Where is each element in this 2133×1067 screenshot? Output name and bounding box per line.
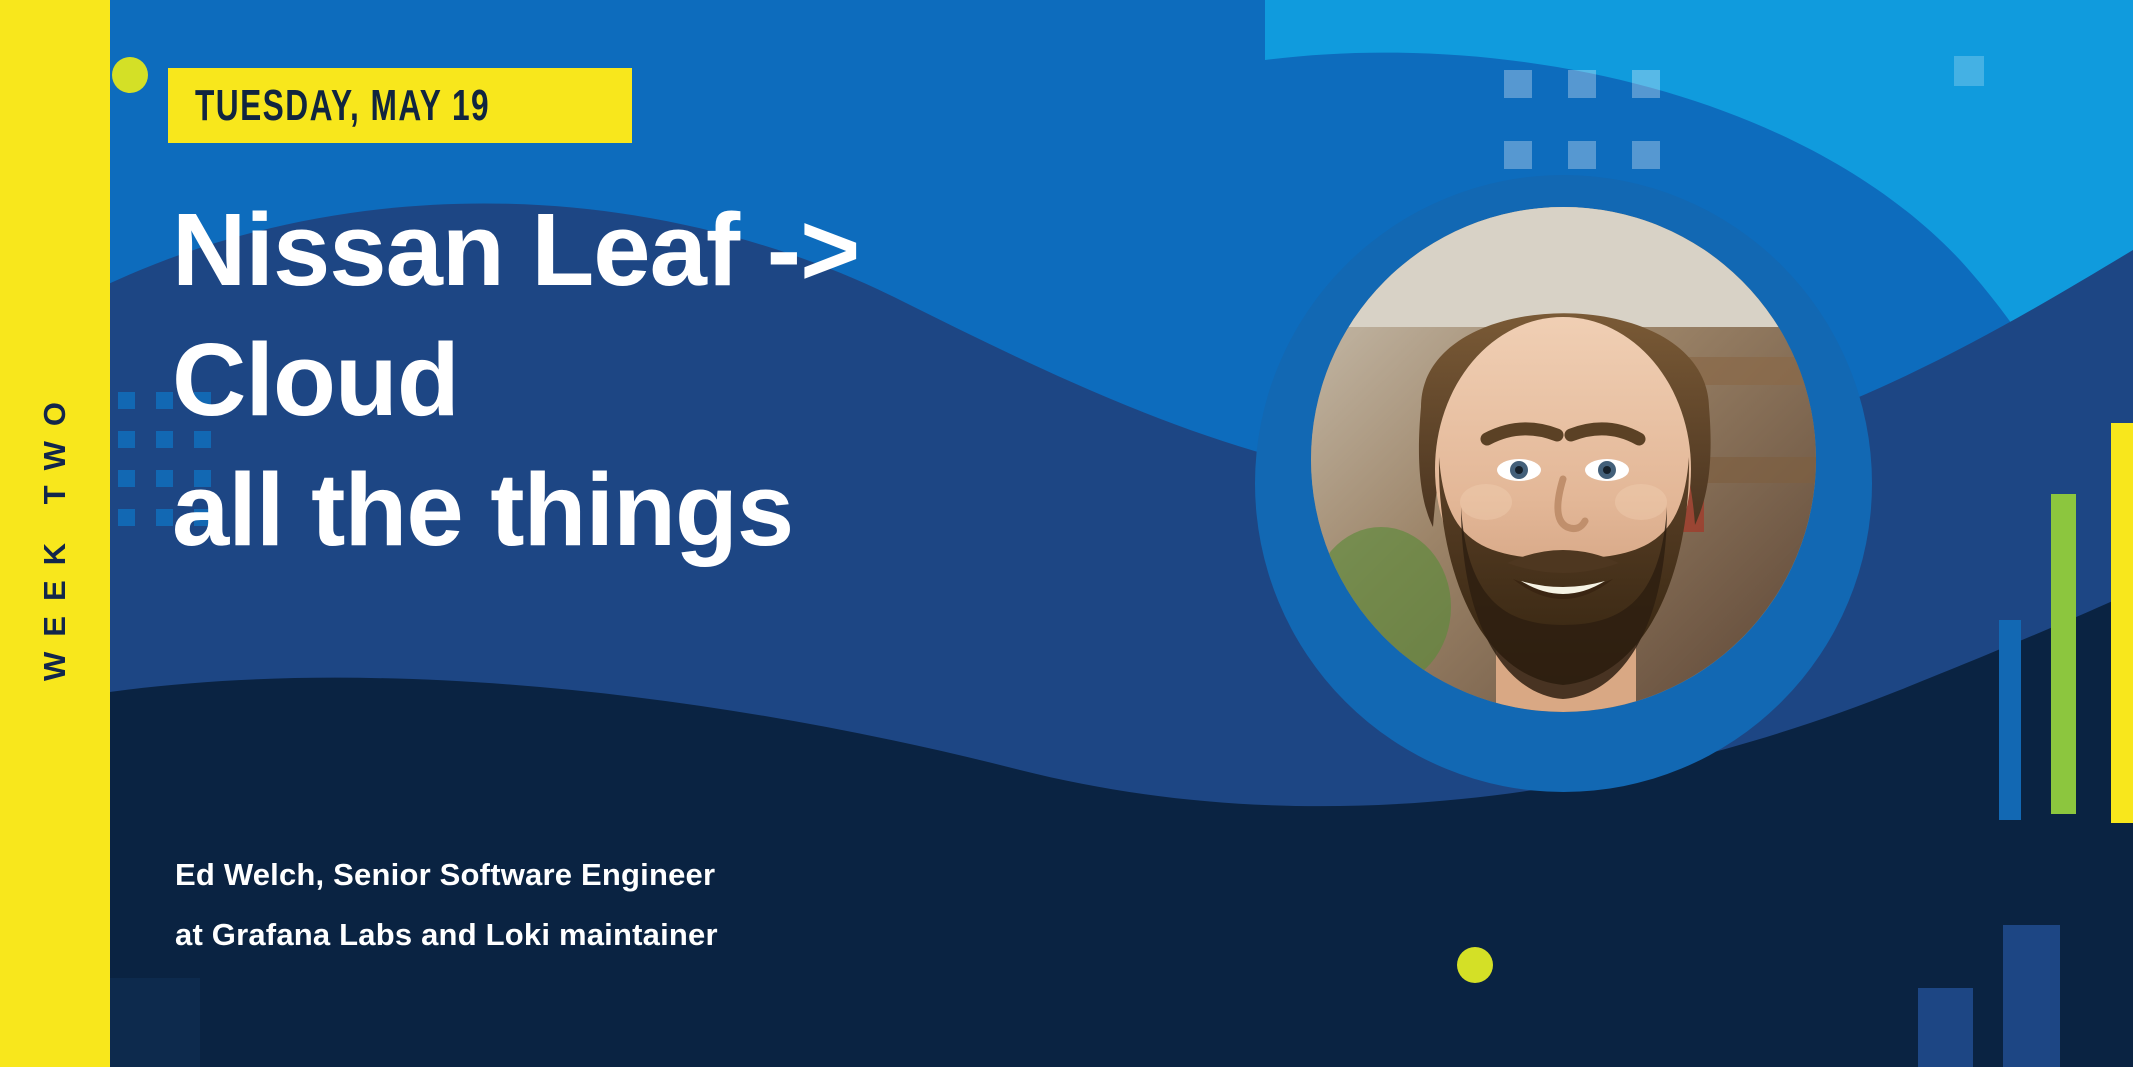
speaker-name-title: Ed Welch, Senior Software Engineer <box>175 845 718 905</box>
grid-square <box>1568 70 1596 98</box>
decorative-bar-dark-left <box>1918 988 1973 1067</box>
grid-square <box>1632 141 1660 169</box>
grid-square <box>1568 141 1596 169</box>
grid-square <box>1632 70 1660 98</box>
week-rail: WEEK TWO <box>0 0 110 1067</box>
decorative-rect-bottom-left <box>110 978 200 1067</box>
decorative-square-grid <box>1504 70 1660 169</box>
date-badge: TUESDAY, MAY 19 <box>168 68 632 143</box>
grid-dot <box>118 431 135 448</box>
week-label: WEEK TWO <box>37 387 73 681</box>
page-title: Nissan Leaf -> Cloud all the things <box>172 185 1032 574</box>
webinar-promo-banner: WEEK TWO <box>0 0 2133 1067</box>
grid-dot <box>118 509 135 526</box>
decorative-dot-bottom <box>1457 947 1493 983</box>
speaker-affiliation: at Grafana Labs and Loki maintainer <box>175 905 718 965</box>
decorative-square-solo <box>1954 56 1984 86</box>
speaker-credit: Ed Welch, Senior Software Engineer at Gr… <box>175 845 718 966</box>
speaker-headshot <box>1311 207 1816 712</box>
grid-square <box>1504 70 1532 98</box>
grid-dot <box>118 470 135 487</box>
grid-dot <box>156 509 173 526</box>
grid-dot <box>156 470 173 487</box>
headline-line-1: Nissan Leaf -> <box>172 185 1032 315</box>
grid-dot <box>156 431 173 448</box>
headline-line-3: all the things <box>172 445 1032 575</box>
decorative-dot-top-left <box>112 57 148 93</box>
grid-square <box>1504 141 1532 169</box>
decorative-bar-yellow <box>2111 423 2133 823</box>
grid-dot <box>118 392 135 409</box>
date-badge-label: TUESDAY, MAY 19 <box>195 84 490 128</box>
headline-line-2: Cloud <box>172 315 1032 445</box>
decorative-bar-dark-right <box>2003 925 2060 1067</box>
decorative-bar-green <box>2051 494 2076 814</box>
grid-dot <box>156 392 173 409</box>
decorative-bar-blue <box>1999 620 2021 820</box>
avatar <box>1311 207 1816 712</box>
